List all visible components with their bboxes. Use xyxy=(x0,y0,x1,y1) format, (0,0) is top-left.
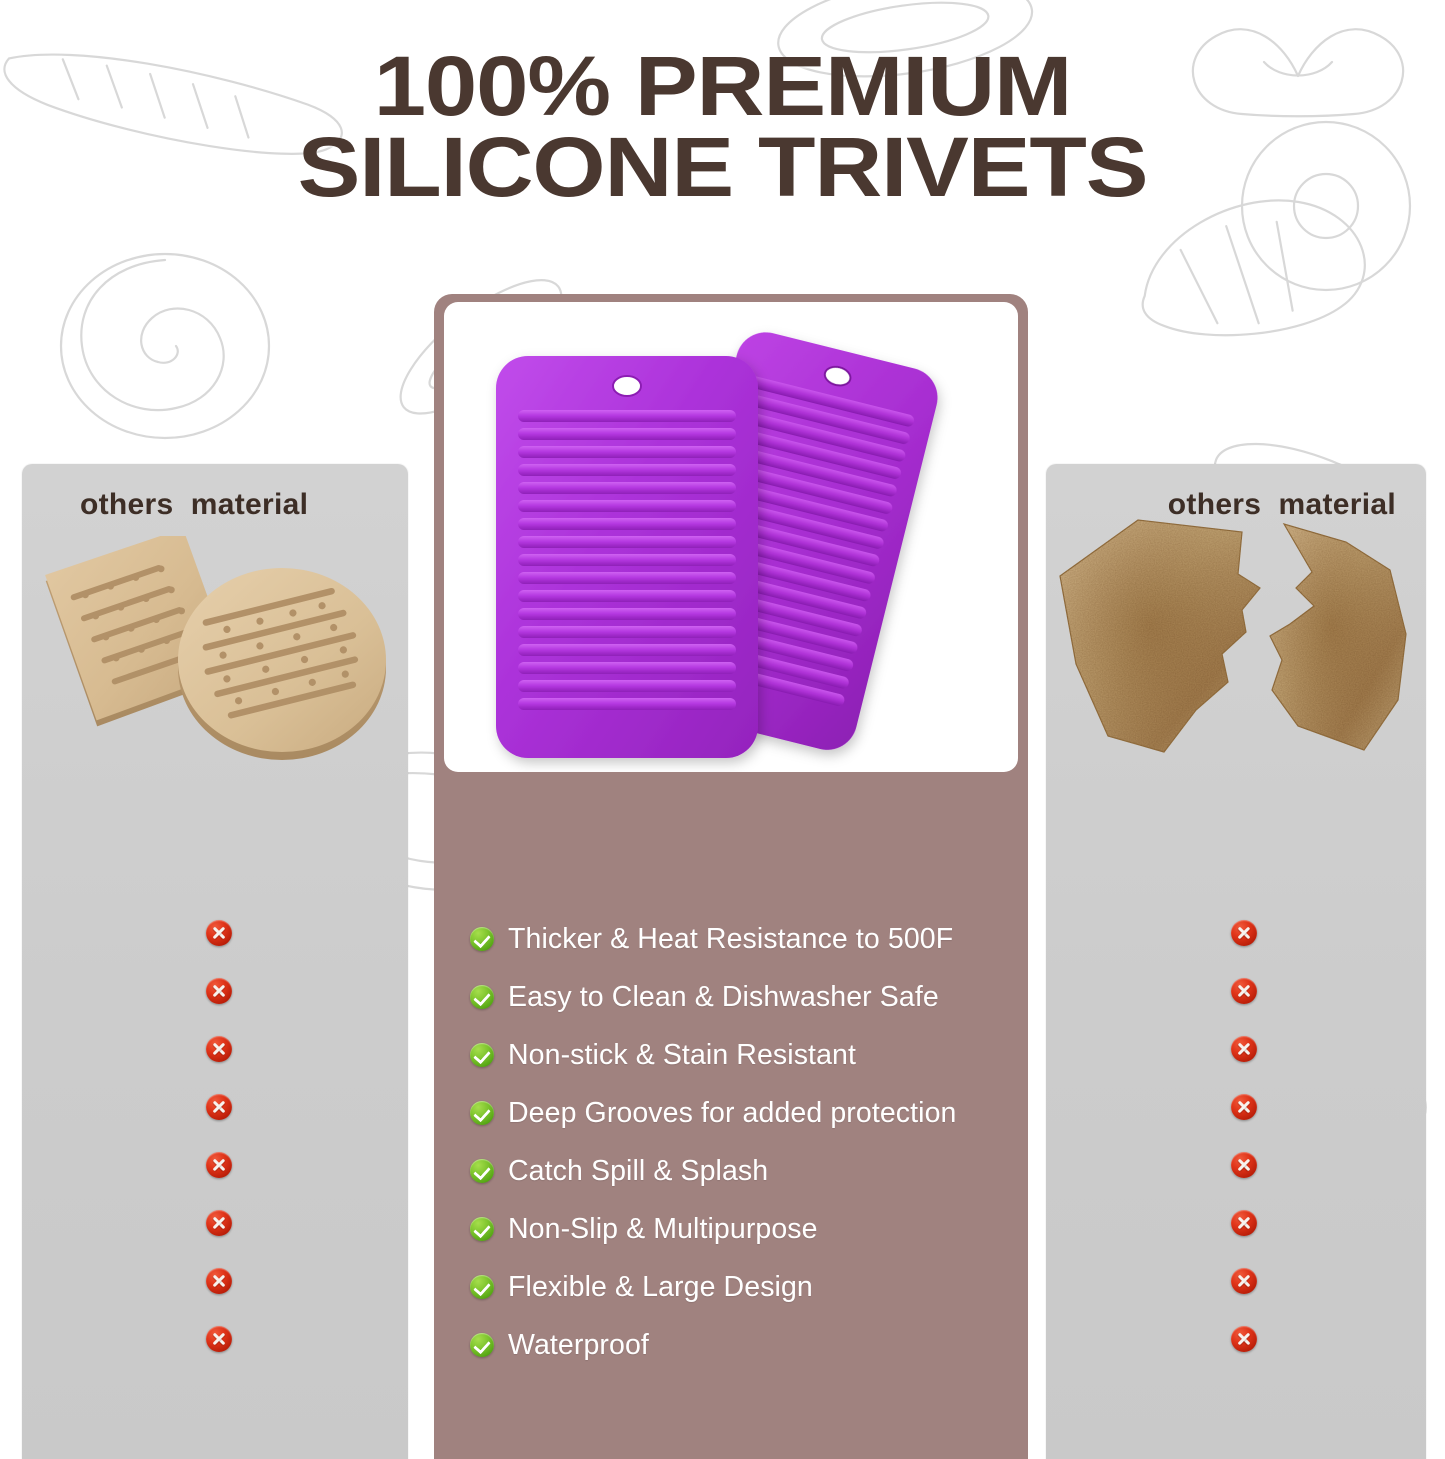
feature-label: Easy to Clean & Dishwasher Safe xyxy=(508,981,939,1014)
feature-row: Waterproof xyxy=(434,1316,1028,1374)
feature-label: Catch Spill & Splash xyxy=(508,1155,768,1188)
feature-label: Flexible & Large Design xyxy=(508,1271,813,1304)
x-mark-row xyxy=(30,1310,408,1368)
headline-line-2: SILICONE TRIVETS xyxy=(0,127,1445,208)
feature-label: Waterproof xyxy=(508,1329,649,1362)
x-icon xyxy=(206,1326,232,1352)
check-icon xyxy=(470,1217,494,1241)
feature-row: Catch Spill & Splash xyxy=(434,1142,1028,1200)
x-icon xyxy=(206,1210,232,1236)
x-mark-row xyxy=(30,904,408,962)
others-mark-column-left xyxy=(22,904,408,1368)
check-icon xyxy=(470,1275,494,1299)
x-mark-row xyxy=(30,1252,408,1310)
feature-label: Deep Grooves for added protection xyxy=(508,1097,957,1130)
x-icon xyxy=(1231,1326,1257,1352)
x-icon xyxy=(206,1268,232,1294)
comparison-panel-others-cork: others material xyxy=(1046,464,1426,1459)
check-icon xyxy=(470,1043,494,1067)
feature-row: Flexible & Large Design xyxy=(434,1258,1028,1316)
x-icon xyxy=(1231,1152,1257,1178)
feature-row: Thicker & Heat Resistance to 500F xyxy=(434,910,1028,968)
headline-line-1: 100% PREMIUM xyxy=(0,46,1445,127)
feature-row: Deep Grooves for added protection xyxy=(434,1084,1028,1142)
feature-row: Non-Slip & Multipurpose xyxy=(434,1200,1028,1258)
others-material-label-left: others material xyxy=(80,488,308,522)
purple-silicone-trivets-photo xyxy=(444,302,1018,772)
feature-row: Easy to Clean & Dishwasher Safe xyxy=(434,968,1028,1026)
x-mark-row xyxy=(1062,1136,1426,1194)
x-icon xyxy=(206,1094,232,1120)
x-mark-row xyxy=(1062,1252,1426,1310)
x-icon xyxy=(1231,1268,1257,1294)
check-icon xyxy=(470,927,494,951)
x-mark-row xyxy=(1062,1310,1426,1368)
x-mark-row xyxy=(1062,1020,1426,1078)
x-icon xyxy=(206,1152,232,1178)
x-mark-row xyxy=(1062,904,1426,962)
feature-label: Thicker & Heat Resistance to 500F xyxy=(508,923,953,956)
x-icon xyxy=(1231,920,1257,946)
page-title: 100% PREMIUM SILICONE TRIVETS xyxy=(0,46,1445,207)
x-mark-row xyxy=(30,1194,408,1252)
broken-cork-trivet-photo xyxy=(1046,514,1426,764)
x-icon xyxy=(1231,978,1257,1004)
others-mark-column-right xyxy=(1046,904,1426,1368)
feature-label: Non-stick & Stain Resistant xyxy=(508,1039,856,1072)
check-icon xyxy=(470,1333,494,1357)
check-icon xyxy=(470,1159,494,1183)
check-icon xyxy=(470,1101,494,1125)
x-mark-row xyxy=(1062,1078,1426,1136)
comparison-panel-others-bamboo: others material xyxy=(22,464,408,1459)
feature-row: Non-stick & Stain Resistant xyxy=(434,1026,1028,1084)
bamboo-trivets-photo xyxy=(22,536,408,791)
x-icon xyxy=(206,1036,232,1062)
x-icon xyxy=(1231,1210,1257,1236)
feature-list: Thicker & Heat Resistance to 500F Easy t… xyxy=(434,910,1028,1374)
check-icon xyxy=(470,985,494,1009)
x-mark-row xyxy=(30,1078,408,1136)
x-mark-row xyxy=(30,962,408,1020)
x-mark-row xyxy=(1062,1194,1426,1252)
x-mark-row xyxy=(30,1020,408,1078)
product-highlight-panel: Thicker & Heat Resistance to 500F Easy t… xyxy=(434,294,1028,1459)
x-mark-row xyxy=(30,1136,408,1194)
x-icon xyxy=(206,978,232,1004)
feature-label: Non-Slip & Multipurpose xyxy=(508,1213,818,1246)
x-icon xyxy=(206,920,232,946)
x-icon xyxy=(1231,1094,1257,1120)
x-mark-row xyxy=(1062,962,1426,1020)
x-icon xyxy=(1231,1036,1257,1062)
